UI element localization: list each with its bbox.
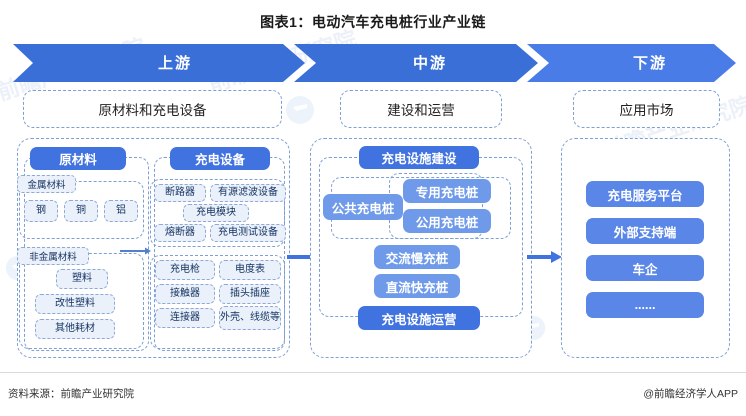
nonmetal-item-modified-plastic[interactable]: 改性塑料 xyxy=(35,294,115,314)
column-upstream: 原材料和充电设备 原材料 金属材料 钢 铜 铝 非金属材料 塑料 改性塑料 其他… xyxy=(13,90,290,358)
metal-item-copper[interactable]: 铜 xyxy=(64,200,98,222)
source-text: 资料来源：前瞻产业研究院 xyxy=(8,386,134,401)
page-title: 图表1：电动汽车充电桩行业产业链 xyxy=(0,12,746,32)
upstream-body: 原材料 金属材料 钢 铜 铝 非金属材料 塑料 改性塑料 其他耗材 充电设备 断… xyxy=(17,138,290,358)
charging-equipment-pill[interactable]: 充电设备 xyxy=(170,147,270,170)
nonmetal-item-plastic[interactable]: 塑料 xyxy=(56,269,108,289)
banner-label-upstream: 上游 xyxy=(90,52,260,73)
equipment-item-test-device[interactable]: 充电测试设备 xyxy=(210,224,286,242)
raw-materials-pill[interactable]: 原材料 xyxy=(30,147,126,170)
ac-slow-pile-item[interactable]: 交流慢充桩 xyxy=(374,245,460,269)
downstream-item-service-platform[interactable]: 充电服务平台 xyxy=(586,181,704,207)
banner-label-downstream: 下游 xyxy=(565,52,735,73)
upstream-header: 原材料和充电设备 xyxy=(23,90,282,128)
downstream-body: 充电服务平台 外部支持端 车企 ...... xyxy=(561,138,730,358)
nonmetal-tag: 非金属材料 xyxy=(17,247,89,265)
downstream-header: 应用市场 xyxy=(573,90,720,128)
equipment-item-kwh-meter[interactable]: 电度表 xyxy=(219,260,281,280)
dc-fast-pile-item[interactable]: 直流快充桩 xyxy=(374,274,460,298)
equipment-item-charging-module[interactable]: 充电模块 xyxy=(183,204,249,222)
facility-operation-pill[interactable]: 充电设施运营 xyxy=(358,306,480,330)
downstream-item-external-support[interactable]: 外部支持端 xyxy=(586,218,704,244)
equipment-item-connector[interactable]: 连接器 xyxy=(155,308,215,328)
equipment-item-breaker[interactable]: 断路器 xyxy=(154,184,206,202)
metal-tag: 金属材料 xyxy=(17,175,76,193)
downstream-item-more[interactable]: ...... xyxy=(586,292,704,318)
equipment-item-contactor[interactable]: 接触器 xyxy=(155,284,215,304)
column-midstream: 建设和运营 充电设施建设 公共充电桩 专用充电桩 公用充电桩 交流慢充桩 直流快… xyxy=(310,90,530,358)
column-downstream: 应用市场 充电服务平台 外部支持端 车企 ...... xyxy=(553,90,736,358)
metal-item-steel[interactable]: 钢 xyxy=(24,200,58,222)
equipment-item-fuse[interactable]: 熔断器 xyxy=(154,224,206,242)
midstream-header: 建设和运营 xyxy=(340,90,502,128)
footer-divider xyxy=(0,372,746,373)
equipment-item-shell-cable[interactable]: 外壳、线缆等 xyxy=(219,306,281,330)
midstream-body: 充电设施建设 公共充电桩 专用充电桩 公用充电桩 交流慢充桩 直流快充桩 充电设… xyxy=(310,138,532,358)
arrow-internal-upstream xyxy=(120,247,152,255)
banner-label-midstream: 中游 xyxy=(345,52,515,73)
equipment-item-active-filter[interactable]: 有源滤波设备 xyxy=(210,184,286,202)
metal-item-aluminum[interactable]: 铝 xyxy=(104,200,138,222)
app-credit: @前瞻经济学人APP xyxy=(643,386,738,401)
dedicated-pile-item[interactable]: 专用充电桩 xyxy=(403,179,491,203)
equipment-item-plug-socket[interactable]: 插头插座 xyxy=(219,284,281,304)
equipment-item-charging-gun[interactable]: 充电枪 xyxy=(155,260,215,280)
downstream-item-automaker[interactable]: 车企 xyxy=(586,255,704,281)
facility-construction-pill[interactable]: 充电设施建设 xyxy=(359,146,479,169)
nonmetal-item-other-consumables[interactable]: 其他耗材 xyxy=(35,319,115,339)
public-use-pile-item[interactable]: 公用充电桩 xyxy=(403,209,491,233)
